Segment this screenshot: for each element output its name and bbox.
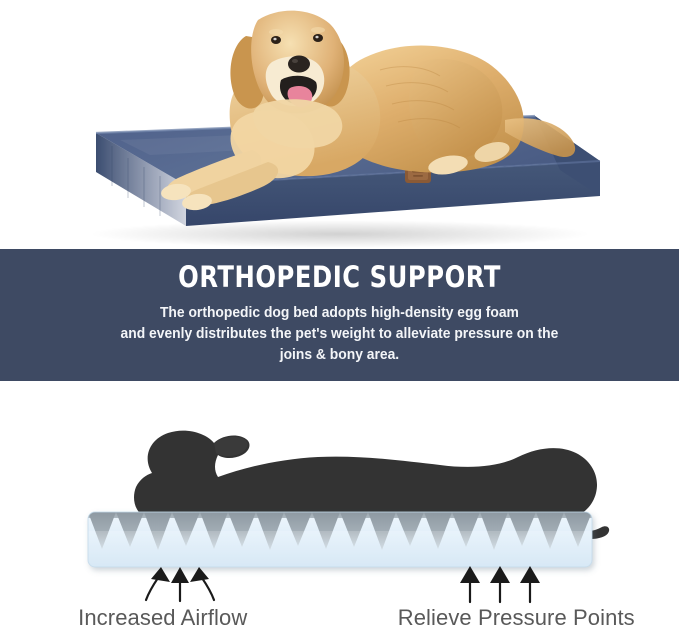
foam-cross-section-illustration — [0, 381, 679, 633]
caption-relieve-pressure-points: Relieve Pressure Points — [346, 605, 679, 631]
hero-illustration — [0, 0, 679, 249]
banner-body-line-2: and evenly distributes the pet's weight … — [121, 324, 559, 345]
banner-body-line-3: joins & bony area. — [121, 345, 559, 366]
hero-product-photo — [0, 0, 679, 249]
orthopedic-support-banner: ORTHOPEDIC SUPPORT The orthopedic dog be… — [0, 249, 679, 381]
banner-body: The orthopedic dog bed adopts high-densi… — [121, 303, 559, 365]
product-infographic-page: ORTHOPEDIC SUPPORT The orthopedic dog be… — [0, 0, 679, 633]
egg-crate-foam-pad — [88, 512, 592, 567]
diagram-captions: Increased Airflow Relieve Pressure Point… — [0, 605, 679, 631]
caption-increased-airflow: Increased Airflow — [0, 605, 346, 631]
banner-body-line-1: The orthopedic dog bed adopts high-densi… — [121, 303, 559, 324]
floor-shadow — [90, 220, 590, 248]
egg-foam-diagram: Increased Airflow Relieve Pressure Point… — [0, 381, 679, 633]
banner-title: ORTHOPEDIC SUPPORT — [178, 260, 501, 294]
